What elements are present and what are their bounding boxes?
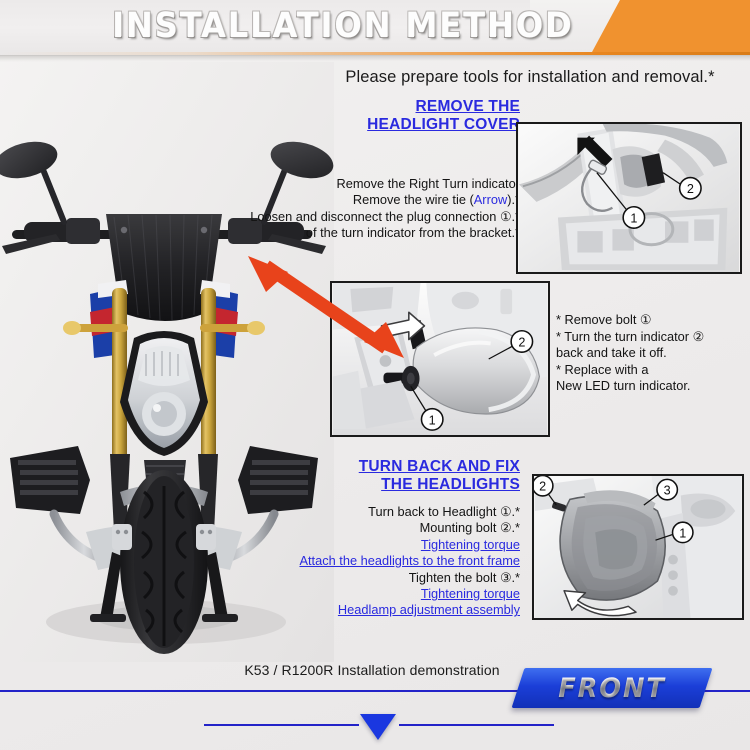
- page-title: INSTALLATION METHOD: [30, 6, 720, 46]
- instruction-line: Tighten the bolt ③.*: [232, 570, 520, 586]
- down-triangle-icon: [360, 714, 396, 740]
- bullet-line: * Turn the turn indicator ②: [556, 329, 746, 346]
- callout-2: 2: [687, 182, 694, 196]
- header-shadow: [0, 55, 750, 61]
- section-1-instructions: Remove the Right Turn indicator Remove t…: [236, 176, 520, 242]
- section-1-heading-line-1: REMOVE THE: [330, 98, 520, 116]
- prepare-tools-note: Please prepare tools for installation an…: [318, 68, 742, 87]
- red-arrow-icon: [248, 256, 404, 358]
- headlamp-adjustment-link[interactable]: Headlamp adjustment assembly: [232, 602, 520, 618]
- instruction-line: Remove the wire tie (Arrow).*: [236, 192, 520, 208]
- bullet-line: * Remove bolt ①: [556, 312, 746, 329]
- tightening-torque-link-1[interactable]: Tightening torque: [232, 537, 520, 553]
- tightening-torque-link-2[interactable]: Tightening torque: [232, 586, 520, 602]
- section-3-heading-line-2: THE HEADLIGHTS: [318, 476, 520, 494]
- section-1-heading: REMOVE THE HEADLIGHT COVER: [330, 98, 520, 134]
- callout-1: 1: [679, 526, 686, 540]
- red-double-arrow: [236, 248, 416, 363]
- page-header: INSTALLATION METHOD: [0, 0, 750, 56]
- headlight-refit-diagram-panel: 2 3 1: [532, 474, 744, 620]
- instruction-line: Turn back to Headlight ①.*: [232, 504, 520, 520]
- instruction-text-before: Remove the wire tie (: [353, 192, 474, 207]
- attach-headlights-link[interactable]: Attach the headlights to the front frame: [232, 553, 520, 569]
- section-3-heading-line-1: TURN BACK AND FIX: [318, 458, 520, 476]
- footer-divider-right: [399, 724, 554, 726]
- instruction-line: of the turn indicator from the bracket.*: [236, 225, 520, 241]
- bullet-line: * Replace with a: [556, 362, 746, 379]
- instruction-line: Loosen and disconnect the plug connectio…: [236, 209, 520, 225]
- callout-1: 1: [429, 413, 436, 427]
- section-1-heading-line-2: HEADLIGHT COVER: [330, 116, 520, 134]
- footer-caption: K53 / R1200R Installation demonstration: [222, 662, 522, 678]
- infographic-page: INSTALLATION METHOD: [0, 0, 750, 750]
- instruction-line: Mounting bolt ②.*: [232, 520, 520, 536]
- arrow-keyword: Arrow: [474, 192, 507, 207]
- bullet-line: New LED turn indicator.: [556, 378, 746, 395]
- footer-divider-left: [204, 724, 359, 726]
- callout-3: 3: [664, 483, 671, 497]
- section-3-instructions: Turn back to Headlight ①.* Mounting bolt…: [232, 504, 520, 619]
- headlight-cover-diagram-panel: 1 2: [516, 122, 742, 274]
- callout-2: 2: [518, 335, 525, 349]
- section-2-bullets: * Remove bolt ① * Turn the turn indicato…: [556, 312, 746, 395]
- bullet-line: back and take it off.: [556, 345, 746, 362]
- callout-1: 1: [630, 211, 637, 225]
- section-3-heading: TURN BACK AND FIX THE HEADLIGHTS: [318, 458, 520, 494]
- callout-2: 2: [539, 480, 546, 494]
- front-badge-label: FRONT: [523, 668, 702, 708]
- instruction-line: Remove the Right Turn indicator: [236, 176, 520, 192]
- front-badge: FRONT: [518, 668, 706, 708]
